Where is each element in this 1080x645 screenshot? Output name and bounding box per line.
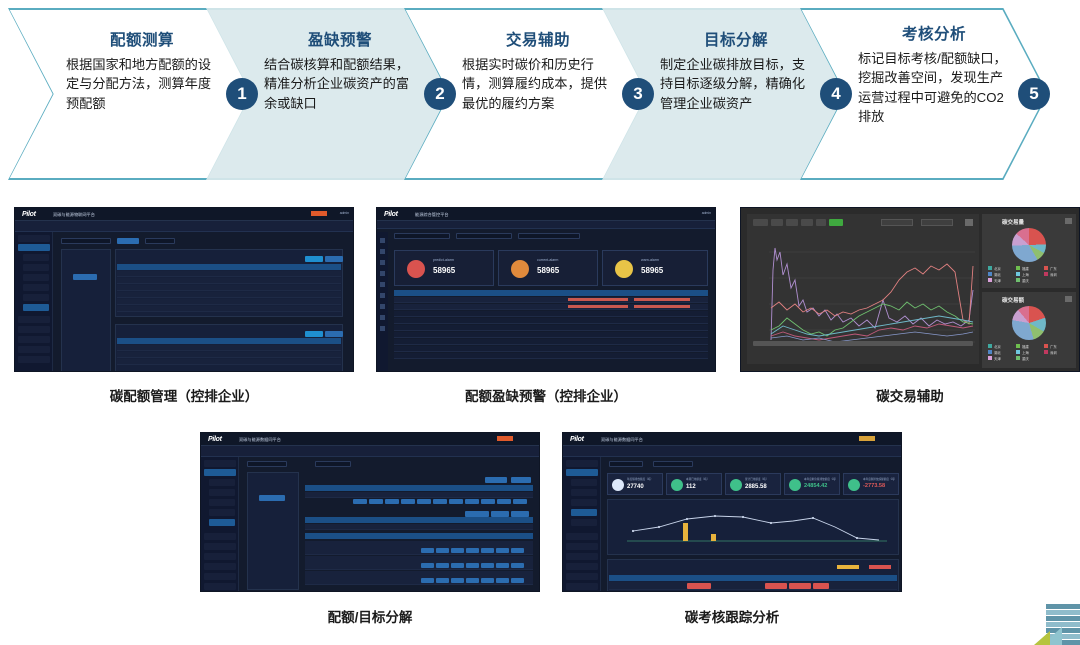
step-title-1: 配额测算 bbox=[66, 28, 218, 50]
legend-text-3: 湖北 bbox=[994, 272, 1001, 277]
app-logo: Pilot bbox=[570, 436, 584, 443]
sidebar-item-9[interactable] bbox=[204, 553, 236, 560]
table-row[interactable] bbox=[394, 339, 708, 345]
detail-month-header bbox=[305, 517, 533, 523]
screenshot-caption-2: 配额盈缺预警（控排企业） bbox=[376, 385, 716, 405]
rail-icon-4[interactable] bbox=[380, 271, 385, 276]
pie-chart-volume bbox=[1012, 228, 1046, 262]
range-tab-1w[interactable] bbox=[753, 219, 768, 226]
legend-text-7: 重庆 bbox=[1022, 356, 1029, 361]
pie-legend-amount: 北京 福建 广东 湖北 上海 深圳 天津 重庆 bbox=[988, 344, 1072, 362]
filter-input-2[interactable] bbox=[145, 238, 175, 244]
legend-text-1: 福建 bbox=[1022, 266, 1029, 271]
table-row[interactable] bbox=[305, 556, 533, 570]
filter-select-2[interactable] bbox=[456, 233, 512, 239]
query-button[interactable] bbox=[305, 256, 323, 262]
sidebar-item-8[interactable] bbox=[204, 543, 236, 550]
sidebar-item-6[interactable] bbox=[23, 294, 49, 301]
range-tab-1m[interactable] bbox=[771, 219, 783, 226]
stat-label-1: predict-alarm bbox=[433, 258, 454, 262]
legend-text-5: 深圳 bbox=[1050, 272, 1057, 277]
sidebar-item-7[interactable] bbox=[204, 533, 236, 540]
pie-panel-amount[interactable]: 碳交易额 北京 福建 广东 湖北 上海 深圳 天津 重庆 bbox=[982, 292, 1076, 368]
sidebar-item-3[interactable] bbox=[23, 264, 49, 271]
app-logo: Pilot bbox=[208, 436, 222, 443]
legend-text-6: 天津 bbox=[994, 278, 1001, 283]
kpi-icon-cumulative bbox=[730, 479, 742, 491]
pie-title-amount: 碳交易额 bbox=[1002, 296, 1024, 304]
legend-text-2: 广东 bbox=[1050, 344, 1057, 349]
legend-text-2: 广东 bbox=[1050, 266, 1057, 271]
sidebar-item-1[interactable] bbox=[18, 244, 50, 251]
app-logo: Pilot bbox=[384, 211, 398, 218]
sidebar-item-4[interactable] bbox=[209, 499, 235, 506]
alert-text-4 bbox=[634, 305, 690, 308]
app-titlebar: Pilot 双碳与能源数据同平台 bbox=[201, 433, 539, 446]
sidebar-item-1[interactable] bbox=[566, 469, 598, 476]
sidebar-item-9[interactable] bbox=[566, 553, 598, 560]
sidebar-item-3[interactable] bbox=[209, 489, 235, 496]
detail-query-button[interactable] bbox=[305, 331, 323, 337]
legend-text-6: 天津 bbox=[994, 356, 1001, 361]
rail-icon-7[interactable] bbox=[380, 304, 385, 309]
table-row[interactable] bbox=[394, 332, 708, 338]
trend-chart-svg bbox=[613, 507, 893, 545]
step-badge-4: 4 bbox=[820, 78, 852, 110]
status-badge-warn bbox=[765, 583, 787, 589]
year-select[interactable] bbox=[247, 461, 287, 467]
sidebar-item-11[interactable] bbox=[204, 573, 236, 580]
month-header-row bbox=[305, 485, 533, 491]
app-titlebar: Pilot 双碳与能源数据同平台 bbox=[563, 433, 901, 446]
status-badge-pct bbox=[813, 583, 829, 589]
chart-legend[interactable] bbox=[777, 353, 947, 359]
sidebar-item-0[interactable] bbox=[204, 460, 236, 467]
breadcrumb-bar bbox=[377, 221, 715, 229]
chart-range-scrollbar[interactable] bbox=[753, 341, 973, 346]
legend-text-5: 深圳 bbox=[1050, 350, 1057, 355]
sidebar-item-2[interactable] bbox=[571, 479, 597, 486]
tree-node-button[interactable] bbox=[259, 495, 285, 501]
scope-select[interactable] bbox=[609, 461, 643, 467]
sidebar-item-8[interactable] bbox=[18, 316, 50, 323]
batch-button[interactable] bbox=[465, 511, 489, 517]
sidebar-item-0[interactable] bbox=[566, 460, 598, 467]
search-button[interactable] bbox=[117, 238, 139, 244]
breadcrumb-bar bbox=[563, 446, 901, 457]
kpi-value-1: 27740 bbox=[627, 484, 644, 490]
alert-table-header bbox=[394, 290, 708, 296]
screenshot-carbon-assessment-tracking[interactable]: Pilot 双碳与能源数据同平台 年度碳排放额度（吨） bbox=[562, 432, 902, 592]
kpi-value-5: -2773.58 bbox=[863, 483, 885, 489]
table-row[interactable] bbox=[305, 571, 533, 585]
table-row[interactable] bbox=[609, 582, 897, 590]
sidebar-item-3[interactable] bbox=[571, 489, 597, 496]
sidebar-item-5[interactable] bbox=[23, 284, 49, 291]
add-button[interactable] bbox=[491, 511, 509, 517]
sidebar-item-2[interactable] bbox=[23, 254, 49, 261]
type-select[interactable] bbox=[315, 461, 351, 467]
rail-icon-3[interactable] bbox=[380, 260, 385, 265]
kpi-label-3: 累计已用额度（吨） bbox=[745, 477, 768, 481]
table-row[interactable] bbox=[117, 352, 341, 358]
rail-icon-9[interactable] bbox=[380, 326, 385, 331]
menu-icon[interactable] bbox=[1065, 218, 1072, 224]
detail-header-row bbox=[117, 338, 341, 344]
detail-export-button[interactable] bbox=[325, 331, 343, 337]
delete-button[interactable] bbox=[511, 511, 529, 517]
org-tree-panel[interactable] bbox=[247, 472, 299, 590]
step-body-3: 根据实时碳价和历史行情，测算履约成本，提供最优的履约方案 bbox=[462, 55, 614, 113]
step-body-1: 根据国家和地方配额的设定与分配方法，测算年度预配额 bbox=[66, 55, 218, 113]
table-row[interactable] bbox=[394, 318, 708, 324]
sidebar-nav[interactable] bbox=[563, 457, 601, 591]
sidebar-item-2[interactable] bbox=[209, 479, 235, 486]
legend-chip-2 bbox=[869, 565, 891, 569]
stat-card-3[interactable]: warn-alarm 58965 bbox=[602, 250, 708, 286]
save-button[interactable] bbox=[485, 477, 507, 483]
screenshot-carbon-trading-assist[interactable]: 碳交易量 北京 福建 广东 湖北 上海 深圳 天津 重庆 碳交易额 北京 福建 … bbox=[740, 207, 1080, 372]
filter-select-1[interactable] bbox=[394, 233, 450, 239]
sidebar-item-0[interactable] bbox=[18, 235, 50, 242]
main-content: 年度碳排放额度（吨） 27740 本期已用额度（吨） 112 累计已用额度（吨）… bbox=[601, 457, 901, 591]
table-row[interactable] bbox=[117, 271, 341, 277]
filter-input-1[interactable] bbox=[61, 238, 111, 244]
kpi-icon-total bbox=[612, 479, 624, 491]
step-title-4: 目标分解 bbox=[660, 28, 812, 50]
kpi-value-4: 24854.42 bbox=[804, 483, 827, 489]
sidebar-item-1[interactable] bbox=[204, 469, 236, 476]
kpi-label-4: 本年度剩余碳排放额度（吨） bbox=[804, 477, 838, 481]
icon-rail[interactable] bbox=[377, 232, 388, 371]
kpi-icon-excess bbox=[848, 479, 860, 491]
export-button[interactable] bbox=[511, 477, 531, 483]
sidebar-nav[interactable] bbox=[201, 457, 239, 591]
table-row[interactable] bbox=[305, 541, 533, 555]
notification-bar-icon[interactable] bbox=[859, 436, 875, 441]
sidebar-item-4[interactable] bbox=[571, 499, 597, 506]
app-subtitle: 双碳与能源数据同平台 bbox=[239, 437, 281, 443]
app-subtitle: 双碳与能源数据同平台 bbox=[601, 437, 643, 443]
sidebar-item-11[interactable] bbox=[18, 346, 50, 353]
kpi-card-2[interactable]: 本期已用额度（吨） 112 bbox=[666, 473, 722, 495]
sidebar-item-8[interactable] bbox=[566, 543, 598, 550]
table-row[interactable] bbox=[305, 492, 533, 498]
step-body-2: 结合碳核算和配额结果，精准分析企业碳资产的富余或缺口 bbox=[264, 55, 416, 113]
range-tab-6m[interactable] bbox=[801, 219, 813, 226]
kpi-card-4[interactable]: 本年度剩余碳排放额度（吨） 24854.42 bbox=[784, 473, 840, 495]
tree-node-button[interactable] bbox=[73, 274, 97, 280]
step-title-2: 盈缺预警 bbox=[264, 28, 416, 50]
kpi-card-3[interactable]: 累计已用额度（吨） 2885.58 bbox=[725, 473, 781, 495]
menu-icon[interactable] bbox=[965, 219, 973, 226]
rail-icon-5[interactable] bbox=[380, 282, 385, 287]
table-row[interactable] bbox=[117, 359, 341, 365]
pie-title-volume: 碳交易量 bbox=[1002, 218, 1024, 226]
pie-panel-volume[interactable]: 碳交易量 北京 福建 广东 湖北 上海 深圳 天津 重庆 bbox=[982, 214, 1076, 288]
step-title-5: 考核分析 bbox=[858, 22, 1010, 44]
alert-circle-icon-orange bbox=[511, 260, 529, 278]
process-flow: 配额测算 根据国家和地方配额的设定与分配方法，测算年度预配额 1 盈缺预警 结合… bbox=[0, 8, 1080, 180]
user-label[interactable]: admin bbox=[340, 211, 349, 215]
kpi-value-3: 2885.58 bbox=[745, 484, 767, 490]
range-tab-3m[interactable] bbox=[786, 219, 798, 226]
screenshot-quota-surplus-alert[interactable]: Pilot 能源综合管控平台 admin predict-alarm 58965 bbox=[376, 207, 716, 372]
sidebar-item-10[interactable] bbox=[566, 563, 598, 570]
app-subtitle: 能源综合管控平台 bbox=[415, 212, 449, 218]
user-label[interactable]: admin bbox=[702, 211, 711, 215]
sidebar-item-7[interactable] bbox=[23, 304, 49, 311]
sidebar-item-6[interactable] bbox=[571, 519, 597, 526]
table-row[interactable] bbox=[305, 524, 533, 530]
step-badge-5: 5 bbox=[1018, 78, 1050, 110]
notification-bar-icon[interactable] bbox=[311, 211, 327, 216]
legend-text-0: 北京 bbox=[994, 266, 1001, 271]
range-tab-all[interactable] bbox=[829, 219, 843, 226]
table-row[interactable] bbox=[117, 299, 341, 305]
breadcrumb-bar bbox=[201, 446, 539, 457]
sidebar-nav[interactable] bbox=[15, 232, 53, 371]
table-row[interactable] bbox=[394, 325, 708, 331]
stat-value-2: 58965 bbox=[537, 266, 559, 275]
alert-circle-icon-yellow bbox=[615, 260, 633, 278]
pie-legend-volume: 北京 福建 广东 湖北 上海 深圳 天津 重庆 bbox=[988, 266, 1072, 284]
screenshot-caption-1: 碳配额管理（控排企业） bbox=[14, 385, 354, 405]
status-badge-alert bbox=[789, 583, 811, 589]
app-logo: Pilot bbox=[22, 211, 36, 218]
kpi-card-1[interactable]: 年度碳排放额度（吨） 27740 bbox=[607, 473, 663, 495]
sidebar-item-7[interactable] bbox=[566, 533, 598, 540]
menu-icon[interactable] bbox=[1065, 296, 1072, 302]
sidebar-item-11[interactable] bbox=[566, 573, 598, 580]
step-body-5: 标记目标考核/配额缺口，挖掘改善空间，发现生产运营过程中可避免的CO2排放 bbox=[858, 49, 1010, 127]
stat-value-3: 58965 bbox=[641, 266, 663, 275]
sidebar-item-6[interactable] bbox=[209, 519, 235, 526]
sidebar-item-5[interactable] bbox=[209, 509, 235, 516]
alert-text-2 bbox=[568, 305, 628, 308]
breadcrumb-bar bbox=[15, 221, 353, 232]
step-body-4: 制定企业碳排放目标，支持目标逐级分解，精确化管理企业碳资产 bbox=[660, 55, 812, 113]
month-input-row[interactable] bbox=[305, 499, 533, 506]
sidebar-item-10[interactable] bbox=[204, 563, 236, 570]
year-select[interactable] bbox=[653, 461, 693, 467]
table-row[interactable] bbox=[394, 346, 708, 352]
legend-text-4: 上海 bbox=[1022, 272, 1029, 277]
sidebar-item-10[interactable] bbox=[18, 336, 50, 343]
notification-bar-icon[interactable] bbox=[497, 436, 513, 441]
screenshot-caption-5: 碳考核跟踪分析 bbox=[562, 606, 902, 626]
main-content: predict-alarm 58965 current-alarm 58965 … bbox=[388, 230, 715, 371]
table-row[interactable] bbox=[117, 306, 341, 312]
screenshot-quota-target-decomposition[interactable]: Pilot 双碳与能源数据同平台 bbox=[200, 432, 540, 592]
table-row[interactable] bbox=[117, 292, 341, 298]
step-badge-1: 1 bbox=[226, 78, 258, 110]
date-to-input[interactable] bbox=[921, 219, 953, 226]
stat-label-2: current-alarm bbox=[537, 258, 558, 262]
rail-icon-2[interactable] bbox=[380, 249, 385, 254]
screenshot-caption-3: 碳交易辅助 bbox=[740, 385, 1080, 405]
sidebar-item-12[interactable] bbox=[18, 356, 50, 363]
sidebar-item-12[interactable] bbox=[204, 583, 236, 590]
sidebar-item-9[interactable] bbox=[18, 326, 50, 333]
date-from-input[interactable] bbox=[881, 219, 913, 226]
table-row[interactable] bbox=[394, 353, 708, 359]
decorative-corner bbox=[1002, 599, 1080, 645]
rail-icon-1[interactable] bbox=[380, 238, 385, 243]
kpi-label-2: 本期已用额度（吨） bbox=[686, 477, 709, 481]
alert-text-1 bbox=[568, 298, 628, 301]
kpi-value-2: 112 bbox=[686, 484, 696, 490]
step-badge-3: 3 bbox=[622, 78, 654, 110]
rail-icon-8[interactable] bbox=[380, 315, 385, 320]
legend-text-0: 北京 bbox=[994, 344, 1001, 349]
filter-select-3[interactable] bbox=[518, 233, 580, 239]
status-badge-over bbox=[687, 583, 711, 589]
legend-text-3: 湖北 bbox=[994, 350, 1001, 355]
sidebar-item-12[interactable] bbox=[566, 583, 598, 590]
screenshot-caption-4: 配额/目标分解 bbox=[200, 606, 540, 626]
stat-label-3: warn-alarm bbox=[641, 258, 659, 262]
step-title-3: 交易辅助 bbox=[462, 28, 614, 50]
stat-card-1[interactable]: predict-alarm 58965 bbox=[394, 250, 494, 286]
kpi-icon-remaining bbox=[789, 479, 801, 491]
pie-chart-amount bbox=[1012, 306, 1046, 340]
assessment-table-header bbox=[609, 575, 897, 581]
stat-card-2[interactable]: current-alarm 58965 bbox=[498, 250, 598, 286]
kpi-icon-used bbox=[671, 479, 683, 491]
sidebar-item-4[interactable] bbox=[23, 274, 49, 281]
legend-text-7: 重庆 bbox=[1022, 278, 1029, 283]
table-header-row bbox=[117, 264, 341, 270]
sidebar-item-5[interactable] bbox=[571, 509, 597, 516]
range-tab-year[interactable] bbox=[816, 219, 826, 226]
tree-panel[interactable] bbox=[61, 249, 111, 372]
app-titlebar: Pilot 双碳与能源物联网平台 admin bbox=[15, 208, 353, 221]
table-row[interactable] bbox=[394, 311, 708, 317]
kpi-card-5[interactable]: 本年度碳排放超额额度（吨） -2773.58 bbox=[843, 473, 899, 495]
legend-text-1: 福建 bbox=[1022, 344, 1029, 349]
trend-legend bbox=[681, 548, 831, 552]
main-content bbox=[239, 457, 539, 591]
legend-text-4: 上海 bbox=[1022, 350, 1029, 355]
rail-icon-6[interactable] bbox=[380, 293, 385, 298]
screenshot-carbon-quota-management[interactable]: Pilot 双碳与能源物联网平台 admin bbox=[14, 207, 354, 372]
app-subtitle: 双碳与能源物联网平台 bbox=[53, 212, 95, 218]
reset-button[interactable] bbox=[325, 256, 343, 262]
legend-chip-1 bbox=[837, 565, 859, 569]
step-badge-2: 2 bbox=[424, 78, 456, 110]
table-row[interactable] bbox=[117, 285, 341, 291]
kpi-label-1: 年度碳排放额度（吨） bbox=[627, 477, 653, 481]
stat-value-1: 58965 bbox=[433, 266, 455, 275]
kpi-label-5: 本年度碳排放超额额度（吨） bbox=[863, 477, 897, 481]
alert-text-3 bbox=[634, 298, 690, 301]
table-row[interactable] bbox=[117, 345, 341, 351]
app-titlebar: Pilot 能源综合管控平台 admin bbox=[377, 208, 715, 221]
alert-circle-icon-red bbox=[407, 260, 425, 278]
table-row[interactable] bbox=[117, 278, 341, 284]
main-content bbox=[53, 232, 353, 371]
detail-table-header bbox=[305, 533, 533, 539]
price-line-chart[interactable] bbox=[747, 214, 979, 364]
